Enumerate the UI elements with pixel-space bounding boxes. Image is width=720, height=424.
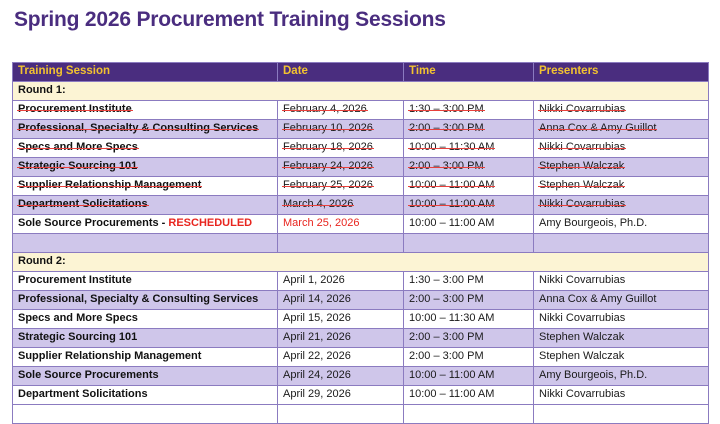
cell-text: Professional, Specialty & Consulting Ser… bbox=[18, 293, 258, 305]
table-header-row: Training Session Date Time Presenters bbox=[13, 63, 709, 82]
cell-text: 2:00 – 3:00 PM bbox=[409, 350, 484, 362]
cell-presenters: Nikki Covarrubias bbox=[534, 101, 709, 120]
cell-session: Sole Source Procurements - RESCHEDULED bbox=[13, 215, 278, 234]
page-title: Spring 2026 Procurement Training Session… bbox=[14, 8, 446, 32]
cell-session: Professional, Specialty & Consulting Ser… bbox=[13, 120, 278, 139]
cancelled-text: February 25, 2026 bbox=[283, 179, 373, 192]
table-row: Professional, Specialty & Consulting Ser… bbox=[13, 291, 709, 310]
spacer-row bbox=[13, 405, 709, 424]
cancelled-text: Supplier Relationship Management bbox=[18, 179, 201, 192]
table-row: Strategic Sourcing 101April 21, 20262:00… bbox=[13, 329, 709, 348]
empty-cell bbox=[534, 405, 709, 424]
cell-date: February 18, 2026 bbox=[278, 139, 404, 158]
cell-time: 2:00 – 3:00 PM bbox=[404, 120, 534, 139]
cell-time: 10:00 – 11:00 AM bbox=[404, 177, 534, 196]
cell-text: April 29, 2026 bbox=[283, 388, 351, 400]
cell-session: Procurement Institute bbox=[13, 101, 278, 120]
cancelled-text: 2:00 – 3:00 PM bbox=[409, 160, 484, 173]
cell-presenters: Nikki Covarrubias bbox=[534, 272, 709, 291]
cell-text: April 1, 2026 bbox=[283, 274, 345, 286]
empty-cell bbox=[13, 405, 278, 424]
cell-date: February 25, 2026 bbox=[278, 177, 404, 196]
cell-text: Nikki Covarrubias bbox=[539, 312, 625, 324]
cancelled-text: Specs and More Specs bbox=[18, 141, 138, 154]
cell-time: 10:00 – 11:30 AM bbox=[404, 310, 534, 329]
spacer-row bbox=[13, 234, 709, 253]
cancelled-text: Department Solicitations bbox=[18, 198, 148, 211]
cell-session: Department Solicitations bbox=[13, 196, 278, 215]
table-body: Round 1:Procurement InstituteFebruary 4,… bbox=[13, 82, 709, 424]
table-header: Training Session Date Time Presenters bbox=[13, 63, 709, 82]
empty-cell bbox=[534, 234, 709, 253]
table-row: Professional, Specialty & Consulting Ser… bbox=[13, 120, 709, 139]
table-row: Department SolicitationsMarch 4, 202610:… bbox=[13, 196, 709, 215]
cell-date: April 1, 2026 bbox=[278, 272, 404, 291]
cell-date: April 24, 2026 bbox=[278, 367, 404, 386]
empty-cell bbox=[278, 234, 404, 253]
cell-time: 2:00 – 3:00 PM bbox=[404, 291, 534, 310]
cell-text: March 25, 2026 bbox=[283, 217, 359, 229]
cancelled-text: February 10, 2026 bbox=[283, 122, 373, 135]
section-label: Round 1: bbox=[13, 82, 709, 101]
cell-time: 2:00 – 3:00 PM bbox=[404, 348, 534, 367]
cell-session: Specs and More Specs bbox=[13, 139, 278, 158]
cell-text: Sole Source Procurements bbox=[18, 369, 159, 381]
cell-date: February 4, 2026 bbox=[278, 101, 404, 120]
cell-session: Department Solicitations bbox=[13, 386, 278, 405]
cell-session: Supplier Relationship Management bbox=[13, 348, 278, 367]
cancelled-text: Nikki Covarrubias bbox=[539, 141, 625, 154]
cell-text: 10:00 – 11:30 AM bbox=[409, 312, 494, 324]
cell-time: 10:00 – 11:30 AM bbox=[404, 139, 534, 158]
cell-text: Nikki Covarrubias bbox=[539, 388, 625, 400]
table-row: Department SolicitationsApril 29, 202610… bbox=[13, 386, 709, 405]
cell-text: Anna Cox & Amy Guillot bbox=[539, 293, 656, 305]
cell-text: Amy Bourgeois, Ph.D. bbox=[539, 217, 647, 229]
cancelled-text: Stephen Walczak bbox=[539, 160, 624, 173]
cell-presenters: Stephen Walczak bbox=[534, 177, 709, 196]
table-row: Procurement InstituteApril 1, 20261:30 –… bbox=[13, 272, 709, 291]
cell-text: Stephen Walczak bbox=[539, 350, 624, 362]
cell-time: 1:30 – 3:00 PM bbox=[404, 101, 534, 120]
cell-presenters: Nikki Covarrubias bbox=[534, 386, 709, 405]
cell-text: 2:00 – 3:00 PM bbox=[409, 293, 484, 305]
cancelled-text: Anna Cox & Amy Guillot bbox=[539, 122, 656, 135]
rescheduled-badge: RESCHEDULED bbox=[168, 217, 252, 229]
cell-text: 2:00 – 3:00 PM bbox=[409, 331, 484, 343]
cell-session: Procurement Institute bbox=[13, 272, 278, 291]
column-header-date: Date bbox=[278, 63, 404, 82]
section-header-row: Round 1: bbox=[13, 82, 709, 101]
cell-date: April 15, 2026 bbox=[278, 310, 404, 329]
section-label: Round 2: bbox=[13, 253, 709, 272]
cancelled-text: 2:00 – 3:00 PM bbox=[409, 122, 484, 135]
cell-text: April 22, 2026 bbox=[283, 350, 351, 362]
section-header-row: Round 2: bbox=[13, 253, 709, 272]
table-row: Supplier Relationship ManagementFebruary… bbox=[13, 177, 709, 196]
cell-presenters: Stephen Walczak bbox=[534, 158, 709, 177]
cell-text: Strategic Sourcing 101 bbox=[18, 331, 137, 343]
cell-text: Specs and More Specs bbox=[18, 312, 138, 324]
cell-presenters: Nikki Covarrubias bbox=[534, 139, 709, 158]
cell-text: 10:00 – 11:00 AM bbox=[409, 217, 494, 229]
cell-session: Specs and More Specs bbox=[13, 310, 278, 329]
table-row: Specs and More SpecsFebruary 18, 202610:… bbox=[13, 139, 709, 158]
table-row: Supplier Relationship ManagementApril 22… bbox=[13, 348, 709, 367]
column-header-session: Training Session bbox=[13, 63, 278, 82]
training-schedule-table: Training Session Date Time Presenters Ro… bbox=[12, 62, 709, 424]
cell-time: 10:00 – 11:00 AM bbox=[404, 386, 534, 405]
empty-cell bbox=[404, 234, 534, 253]
cancelled-text: February 24, 2026 bbox=[283, 160, 373, 173]
cell-session: Strategic Sourcing 101 bbox=[13, 329, 278, 348]
cancelled-text: Procurement Institute bbox=[18, 103, 132, 116]
cancelled-text: Strategic Sourcing 101 bbox=[18, 160, 137, 173]
cell-time: 2:00 – 3:00 PM bbox=[404, 329, 534, 348]
cell-date: March 25, 2026 bbox=[278, 215, 404, 234]
cell-time: 2:00 – 3:00 PM bbox=[404, 158, 534, 177]
cancelled-text: Nikki Covarrubias bbox=[539, 198, 625, 211]
cell-presenters: Stephen Walczak bbox=[534, 329, 709, 348]
empty-cell bbox=[13, 234, 278, 253]
cancelled-text: 10:00 – 11:30 AM bbox=[409, 141, 494, 154]
cell-time: 10:00 – 11:00 AM bbox=[404, 367, 534, 386]
cell-presenters: Nikki Covarrubias bbox=[534, 310, 709, 329]
cell-presenters: Stephen Walczak bbox=[534, 348, 709, 367]
cell-date: April 22, 2026 bbox=[278, 348, 404, 367]
cancelled-text: February 4, 2026 bbox=[283, 103, 367, 116]
cell-date: February 10, 2026 bbox=[278, 120, 404, 139]
column-header-time: Time bbox=[404, 63, 534, 82]
cell-presenters: Amy Bourgeois, Ph.D. bbox=[534, 367, 709, 386]
cell-text: Procurement Institute bbox=[18, 274, 132, 286]
cell-text: Stephen Walczak bbox=[539, 331, 624, 343]
cell-presenters: Anna Cox & Amy Guillot bbox=[534, 120, 709, 139]
cell-text: Amy Bourgeois, Ph.D. bbox=[539, 369, 647, 381]
cancelled-text: 10:00 – 11:00 AM bbox=[409, 179, 494, 192]
cell-text: Supplier Relationship Management bbox=[18, 350, 201, 362]
cell-date: April 29, 2026 bbox=[278, 386, 404, 405]
cell-time: 10:00 – 11:00 AM bbox=[404, 196, 534, 215]
table-row: Specs and More SpecsApril 15, 202610:00 … bbox=[13, 310, 709, 329]
cancelled-text: Nikki Covarrubias bbox=[539, 103, 625, 116]
table-row: Procurement InstituteFebruary 4, 20261:3… bbox=[13, 101, 709, 120]
cell-time: 1:30 – 3:00 PM bbox=[404, 272, 534, 291]
cancelled-text: February 18, 2026 bbox=[283, 141, 373, 154]
empty-cell bbox=[404, 405, 534, 424]
cell-text: 1:30 – 3:00 PM bbox=[409, 274, 484, 286]
cell-text: April 15, 2026 bbox=[283, 312, 351, 324]
cell-text: 10:00 – 11:00 AM bbox=[409, 388, 494, 400]
cancelled-text: 1:30 – 3:00 PM bbox=[409, 103, 484, 116]
cell-date: February 24, 2026 bbox=[278, 158, 404, 177]
cell-session: Strategic Sourcing 101 bbox=[13, 158, 278, 177]
cell-session: Sole Source Procurements bbox=[13, 367, 278, 386]
table-row: Strategic Sourcing 101February 24, 20262… bbox=[13, 158, 709, 177]
cell-session: Supplier Relationship Management bbox=[13, 177, 278, 196]
column-header-presenters: Presenters bbox=[534, 63, 709, 82]
cell-time: 10:00 – 11:00 AM bbox=[404, 215, 534, 234]
cell-presenters: Anna Cox & Amy Guillot bbox=[534, 291, 709, 310]
table-row: Sole Source ProcurementsApril 24, 202610… bbox=[13, 367, 709, 386]
empty-cell bbox=[278, 405, 404, 424]
cell-text: 10:00 – 11:00 AM bbox=[409, 369, 494, 381]
cell-session: Professional, Specialty & Consulting Ser… bbox=[13, 291, 278, 310]
cell-presenters: Amy Bourgeois, Ph.D. bbox=[534, 215, 709, 234]
cell-text: April 24, 2026 bbox=[283, 369, 351, 381]
cancelled-text: Professional, Specialty & Consulting Ser… bbox=[18, 122, 258, 135]
cell-date: March 4, 2026 bbox=[278, 196, 404, 215]
cell-text: Department Solicitations bbox=[18, 388, 148, 400]
cell-text: April 14, 2026 bbox=[283, 293, 351, 305]
cancelled-text: 10:00 – 11:00 AM bbox=[409, 198, 494, 211]
cell-date: April 21, 2026 bbox=[278, 329, 404, 348]
cancelled-text: Stephen Walczak bbox=[539, 179, 624, 192]
cell-presenters: Nikki Covarrubias bbox=[534, 196, 709, 215]
cell-date: April 14, 2026 bbox=[278, 291, 404, 310]
cell-text: Nikki Covarrubias bbox=[539, 274, 625, 286]
cancelled-text: March 4, 2026 bbox=[283, 198, 353, 211]
cell-text: April 21, 2026 bbox=[283, 331, 351, 343]
cell-text: Sole Source Procurements - bbox=[18, 217, 168, 229]
table-row: Sole Source Procurements - RESCHEDULEDMa… bbox=[13, 215, 709, 234]
